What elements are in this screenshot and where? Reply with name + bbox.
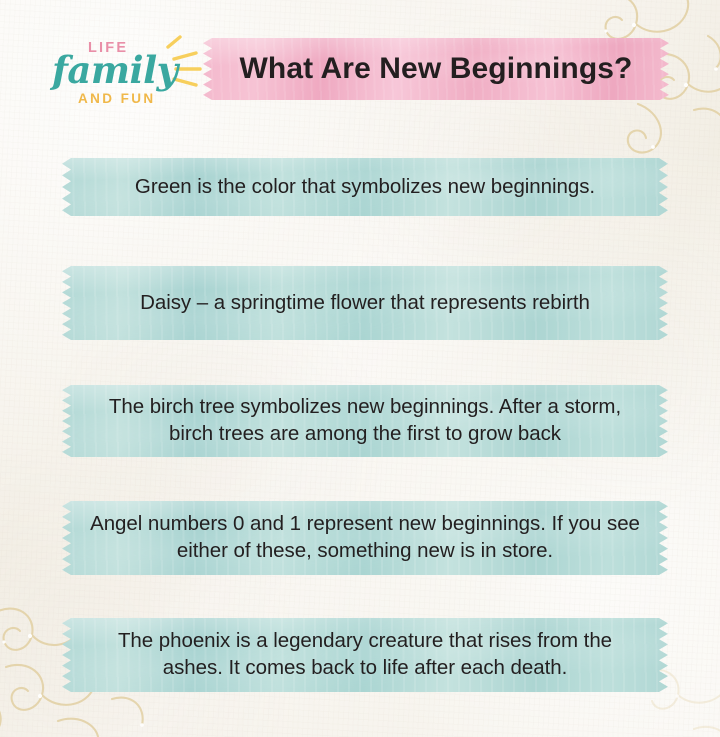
fact-banner: The phoenix is a legendary creature that… xyxy=(62,618,668,692)
brand-logo: LIFE family AND FUN xyxy=(40,33,205,111)
fact-banner: Daisy – a springtime flower that represe… xyxy=(62,266,668,340)
fact-text: Angel numbers 0 and 1 represent new begi… xyxy=(62,511,668,564)
fact-banner: Angel numbers 0 and 1 represent new begi… xyxy=(62,501,668,575)
fact-text: The birch tree symbolizes new beginnings… xyxy=(62,394,668,447)
fact-banner: Green is the color that symbolizes new b… xyxy=(62,158,668,216)
fact-text: Daisy – a springtime flower that represe… xyxy=(114,290,616,317)
logo-word-family: family xyxy=(49,48,181,92)
fact-text: Green is the color that symbolizes new b… xyxy=(109,174,621,201)
fact-banner: The birch tree symbolizes new beginnings… xyxy=(62,385,668,457)
fact-text: The phoenix is a legendary creature that… xyxy=(62,628,668,681)
page-title: What Are New Beginnings? xyxy=(240,52,633,86)
brand-logo-artwork: LIFE family AND FUN xyxy=(40,33,205,111)
poster-canvas: LIFE family AND FUN What Are New Beginni… xyxy=(0,0,720,737)
logo-word-and-fun: AND FUN xyxy=(78,91,156,106)
title-banner: What Are New Beginnings? xyxy=(203,38,669,100)
